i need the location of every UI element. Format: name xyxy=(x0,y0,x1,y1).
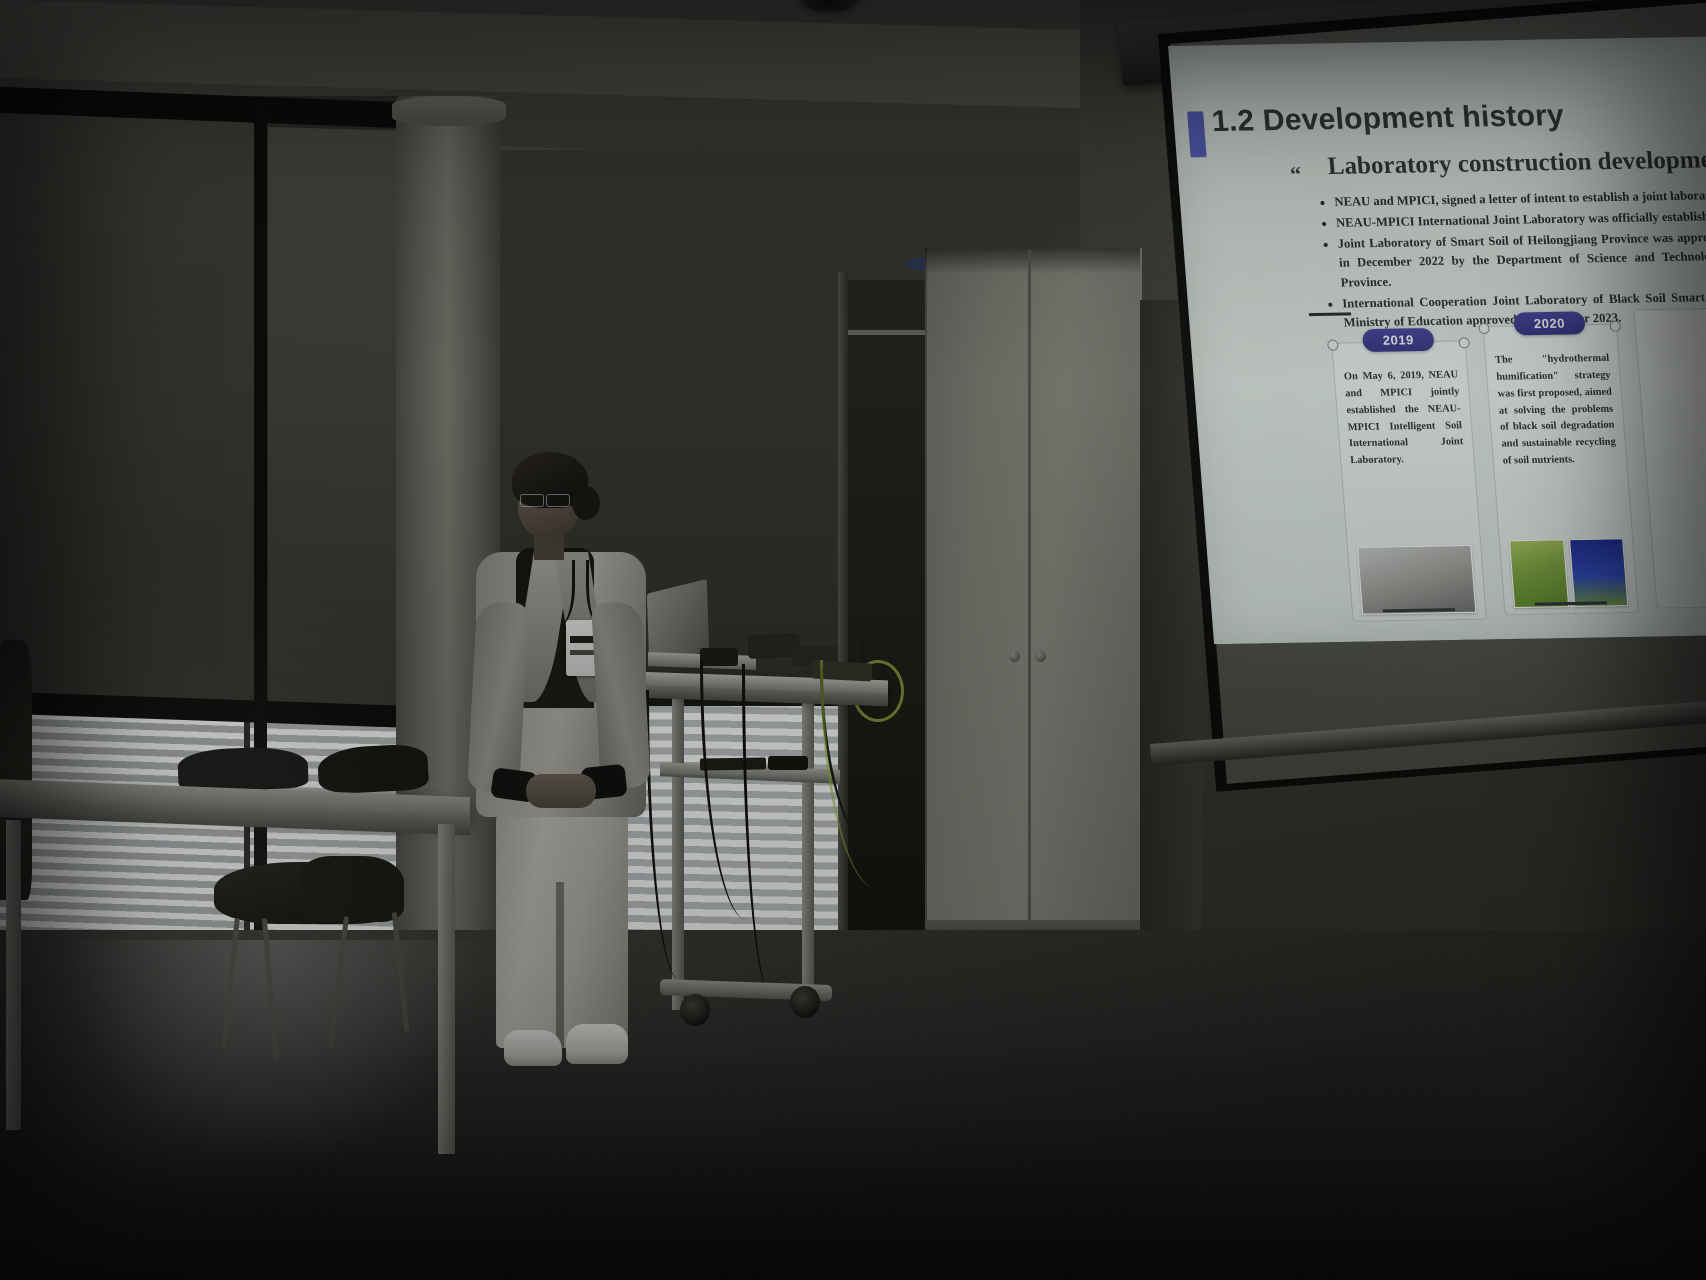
timeline-year-badge: 2020 xyxy=(1513,311,1586,335)
cabinet-knob-right[interactable] xyxy=(1035,651,1046,662)
table-leg-left xyxy=(6,820,21,1130)
quote-mark-icon: “ xyxy=(1289,162,1302,188)
timeline-card-next xyxy=(1634,307,1706,608)
slide-subtitle: Laboratory construction development xyxy=(1327,146,1706,181)
window-blind-upper-left xyxy=(0,113,258,713)
timeline-card-text: On May 6, 2019, NEAU and MPICI jointly e… xyxy=(1343,367,1465,470)
cart-post-right xyxy=(802,690,814,998)
timeline-node-right xyxy=(1458,337,1470,348)
timeline-card-2019: 2019 On May 6, 2019, NEAU and MPICI join… xyxy=(1331,340,1487,622)
slide-canvas: 1.2 Development history “ Laboratory con… xyxy=(1168,35,1706,644)
cabinet-door-seam xyxy=(1028,250,1031,936)
chair-backrest-far[interactable] xyxy=(177,746,308,793)
cabinet-top-shadow xyxy=(925,248,1140,274)
presentation-room-photo: 1.2 Development history “ Laboratory con… xyxy=(0,0,1706,1280)
cart-shelf-remote[interactable] xyxy=(768,756,808,770)
presenter-shoe-left xyxy=(504,1030,562,1066)
timeline-node-right xyxy=(1609,321,1621,332)
timeline-node-left xyxy=(1327,340,1339,351)
photo-caption-bar xyxy=(1534,601,1607,605)
timeline-card-text: The "hydrothermal humification" strategy… xyxy=(1494,351,1617,471)
storage-cabinet[interactable] xyxy=(925,248,1142,938)
presenter-hair-bun xyxy=(572,486,600,520)
closet-rail xyxy=(848,330,930,335)
green-field-photo xyxy=(1509,539,1569,608)
office-signing-photo xyxy=(1357,545,1476,615)
slide-accent-bar xyxy=(1187,111,1207,157)
photo-caption-bar xyxy=(1382,608,1455,612)
timeline-card-2020: 2020 The "hydrothermal humification" str… xyxy=(1482,324,1638,615)
presenter-shoe-right xyxy=(566,1024,628,1064)
presenter-trouser-seam xyxy=(556,882,564,1048)
slide-title: 1.2 Development history xyxy=(1211,99,1566,139)
presenter-hands xyxy=(526,774,596,808)
timeline-node-left xyxy=(1478,323,1490,334)
timeline-year-badge: 2019 xyxy=(1362,328,1435,352)
cabinet-knob-left[interactable] xyxy=(1009,651,1020,662)
chair-backrest[interactable] xyxy=(300,856,404,922)
timeline-card-photos xyxy=(1509,538,1628,608)
timeline-card-photos xyxy=(1357,545,1476,615)
glasses-lens-right xyxy=(546,494,570,507)
cart-caster-right xyxy=(790,986,820,1018)
blue-poster-photo xyxy=(1569,538,1629,607)
cart-caster-left xyxy=(680,994,710,1026)
table-leg-right xyxy=(438,824,455,1154)
slide-bullet: Joint Laboratory of Smart Soil of Heilon… xyxy=(1337,227,1706,293)
glasses-lens-left xyxy=(520,494,544,507)
presenter-arm-right xyxy=(591,601,651,789)
projected-slide: 1.2 Development history “ Laboratory con… xyxy=(1168,35,1706,644)
presenter xyxy=(470,452,660,1072)
presenter-arm-left xyxy=(467,601,529,793)
column-capital xyxy=(392,96,506,126)
